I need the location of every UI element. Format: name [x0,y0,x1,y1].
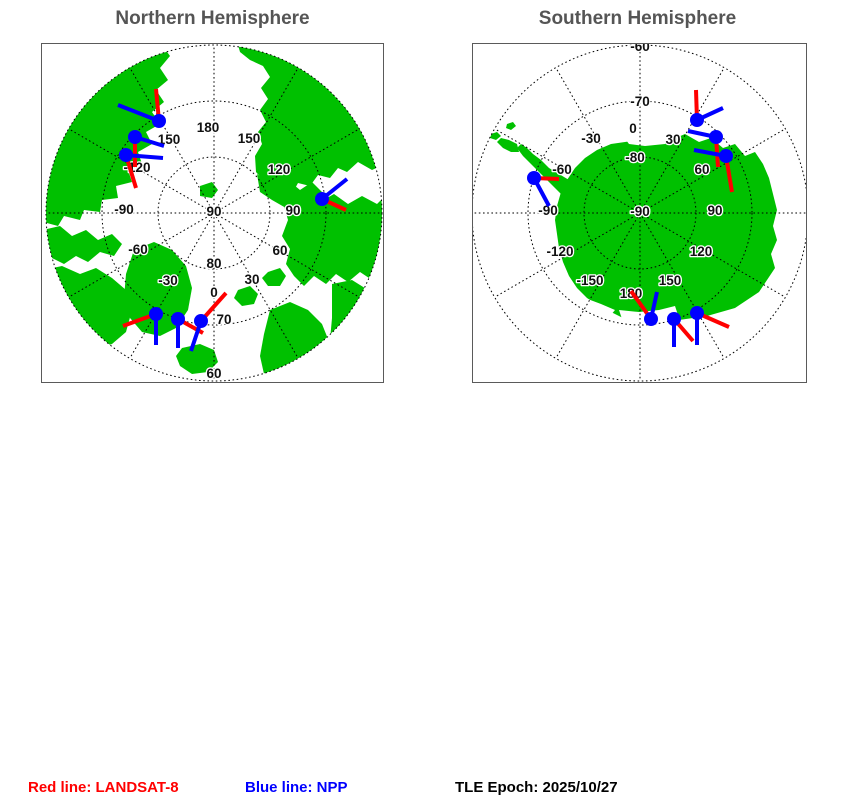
lon-label-0: 0 [629,121,637,136]
satellite-position-dot [171,312,185,326]
lon-label-30: 30 [244,272,259,287]
south-map-svg: -90 -80 -70 -60 0 30 60 90 120 150 180 -… [473,44,807,383]
satellite-position-dot [709,130,723,144]
legend-npp: Blue line: NPP [245,779,348,796]
satellite-position-dot [119,148,133,162]
lon-label-30: 30 [665,132,680,147]
legend-landsat8: Red line: LANDSAT-8 [28,779,179,796]
polar-satellite-track-figure: Northern Hemisphere [0,0,850,425]
lat-label-m90: -90 [630,204,650,219]
lat-label-80: 80 [206,256,221,271]
lon-label-m120: -120 [546,244,573,259]
satellite-position-dot [690,306,704,320]
lon-label-180: 180 [197,120,220,135]
lon-label-m90: -90 [114,202,134,217]
southern-hemisphere-plot: -90 -80 -70 -60 0 30 60 90 120 150 180 -… [472,43,807,383]
satellite-position-dot [194,314,208,328]
lon-label-150: 150 [659,273,682,288]
lat-label-70: 70 [216,312,231,327]
lon-label-60: 60 [694,162,709,177]
lon-label-m60: -60 [552,162,572,177]
lon-label-60: 60 [272,243,287,258]
lat-label-m80: -80 [625,150,645,165]
lon-label-90: 90 [707,203,722,218]
lon-label-m30: -30 [581,131,601,146]
land-antarctica [555,134,777,320]
lon-label-90: 90 [285,203,300,218]
satellite-position-dot [315,192,329,206]
satellite-position-dot [128,130,142,144]
northern-hemisphere-title: Northern Hemisphere [0,8,425,30]
southern-hemisphere-title: Southern Hemisphere [425,8,850,30]
lat-label-m60: -60 [630,44,650,54]
northern-hemisphere-plot: 90 80 70 60 0 30 60 90 120 150 180 150 -… [41,43,384,383]
lon-label-120: 120 [690,244,713,259]
lon-label-m150: -150 [576,273,603,288]
satellite-position-dot [667,312,681,326]
lon-label-0: 0 [210,285,218,300]
north-map-svg: 90 80 70 60 0 30 60 90 120 150 180 150 -… [42,44,384,383]
lon-label-120: 120 [268,162,291,177]
satellite-position-dot [152,114,166,128]
tle-epoch-label: TLE Epoch: 2025/10/27 [455,779,618,796]
satellite-position-dot [719,149,733,163]
figure-legend-footer: Red line: LANDSAT-8 Blue line: NPP TLE E… [0,383,850,425]
lon-label-m30: -30 [158,273,178,288]
lat-label-90: 90 [206,204,221,219]
lat-label-m70: -70 [630,94,650,109]
satellite-position-dot [644,312,658,326]
lon-label-m60: -60 [128,242,148,257]
southern-hemisphere-panel: Southern Hemisphere [425,0,850,425]
lon-label-150e: 150 [238,131,261,146]
satellite-position-dot [527,171,541,185]
lat-label-60: 60 [206,366,221,381]
satellite-position-dot [690,113,704,127]
satellite-position-dot [149,307,163,321]
northern-hemisphere-panel: Northern Hemisphere [0,0,425,425]
